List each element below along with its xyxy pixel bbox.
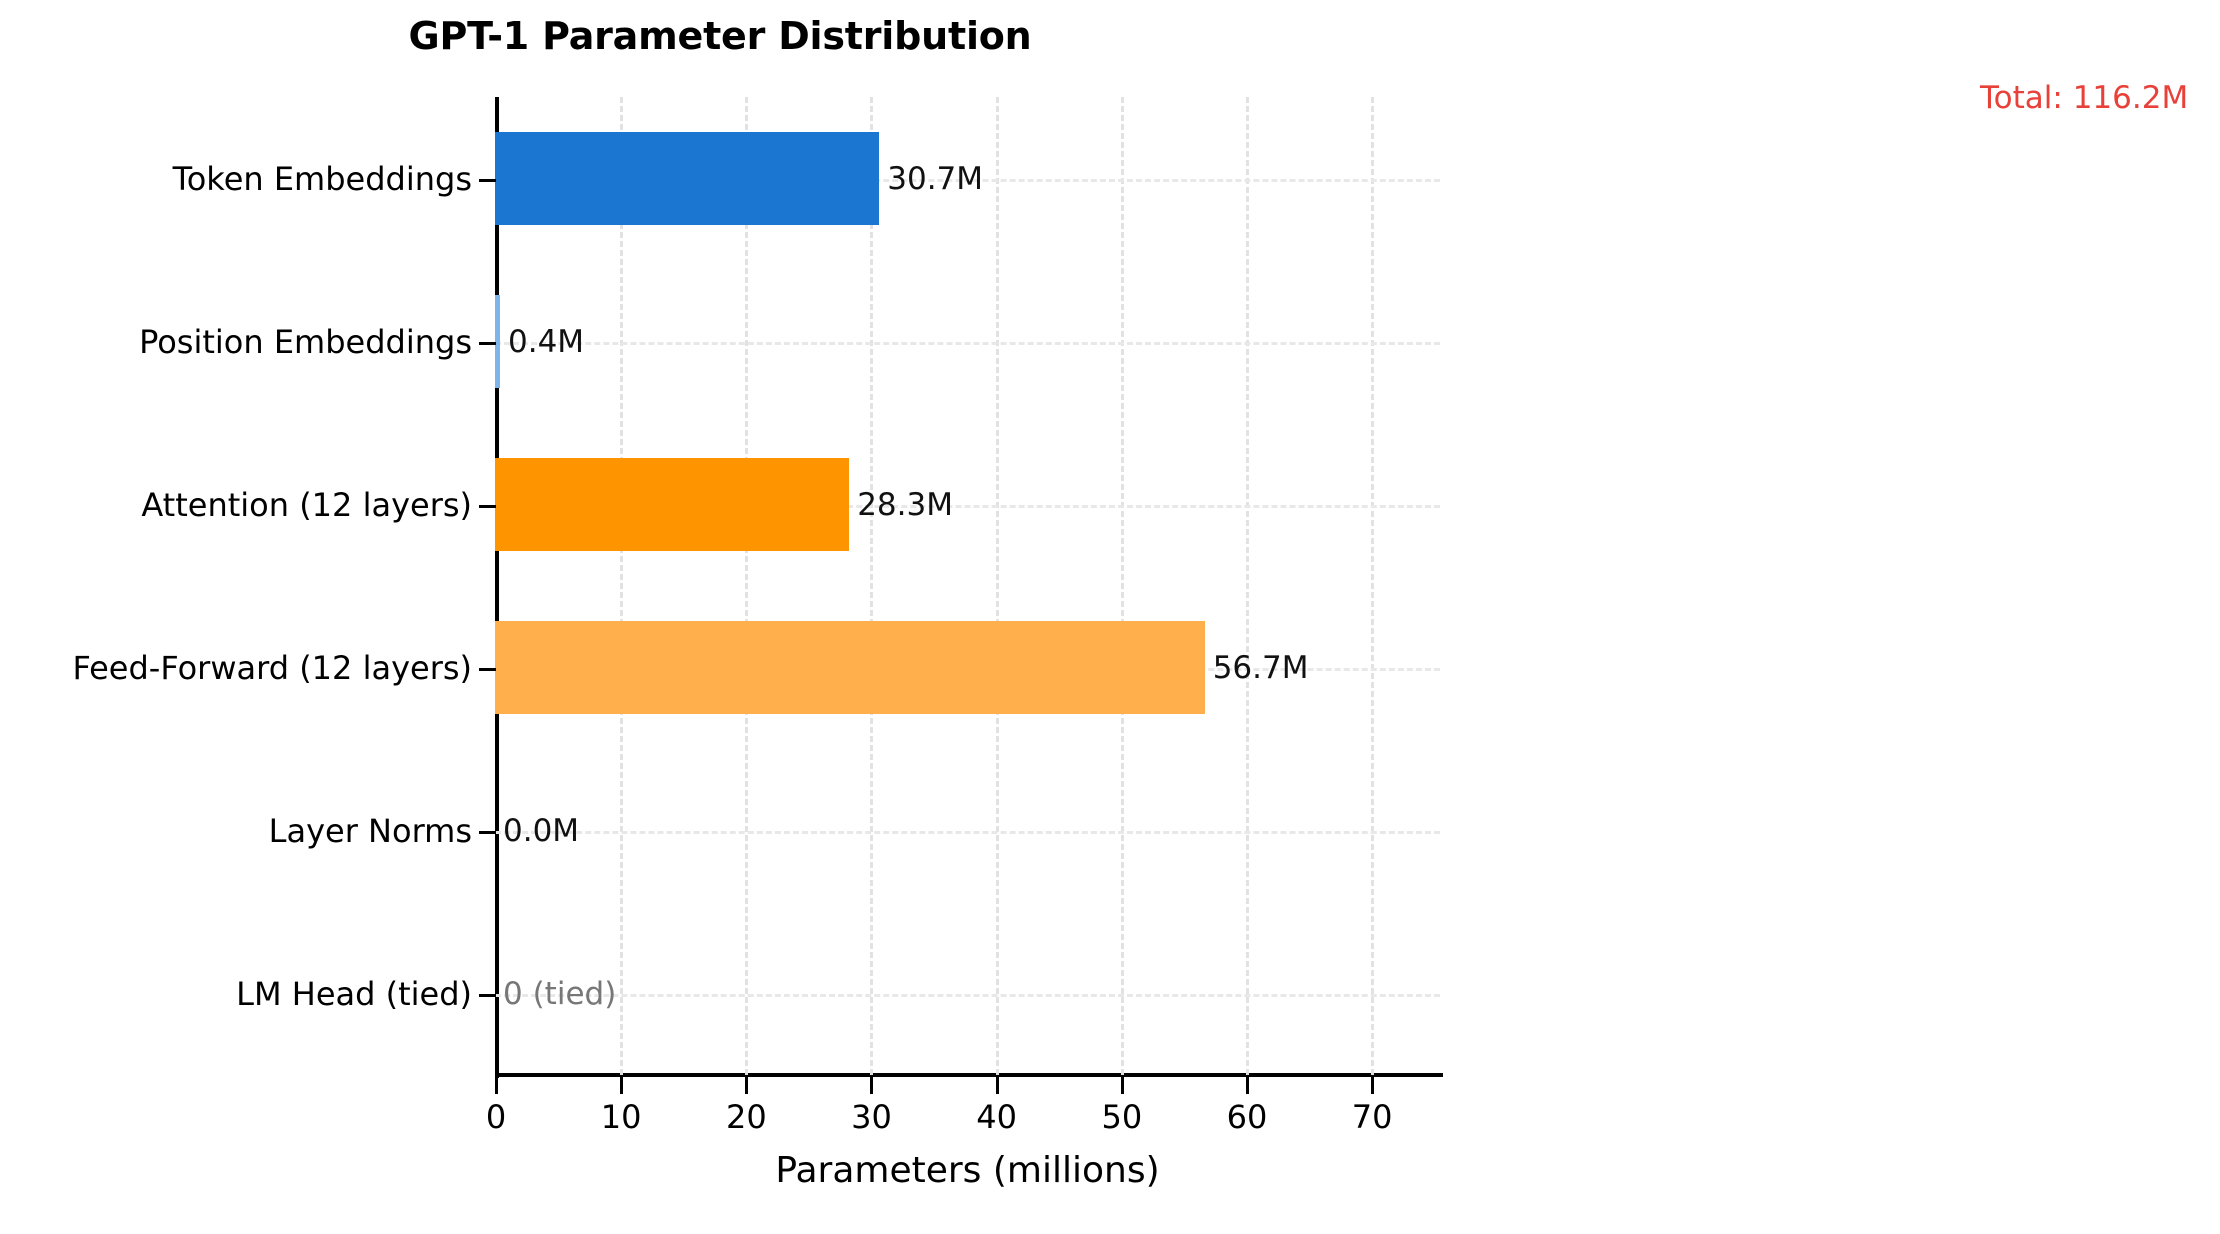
bar-value-label: 0.0M <box>503 813 579 849</box>
gridline-vertical <box>620 97 623 1075</box>
y-tick-label: Token Embeddings <box>173 160 472 198</box>
gridline-vertical <box>870 97 873 1075</box>
y-tick-mark <box>479 668 496 671</box>
gridline-horizontal <box>495 994 1440 997</box>
gridline-vertical <box>745 97 748 1075</box>
gridline-vertical <box>1121 97 1124 1075</box>
bar-value-label: 56.7M <box>1213 650 1309 686</box>
y-tick-mark <box>479 994 496 997</box>
bar[interactable] <box>495 458 849 551</box>
plot-area: 30.7M0.4M28.3M56.7M0.0M0 (tied) <box>495 97 1440 1075</box>
x-tick-label: 20 <box>726 1098 767 1136</box>
gridline-vertical <box>996 97 999 1075</box>
x-tick-label: 30 <box>851 1098 892 1136</box>
gridline-vertical <box>1246 97 1249 1075</box>
bar[interactable] <box>495 132 879 225</box>
x-tick-label: 70 <box>1352 1098 1393 1136</box>
bar-value-label: 0.4M <box>508 324 584 360</box>
x-tick-label: 60 <box>1227 1098 1268 1136</box>
gridline-vertical <box>1371 97 1374 1075</box>
bar-value-label: 30.7M <box>887 161 983 197</box>
x-tick-mark <box>1246 1077 1249 1094</box>
y-tick-label: Attention (12 layers) <box>141 486 472 524</box>
y-tick-label: Position Embeddings <box>139 323 472 361</box>
bar-value-label: 28.3M <box>857 487 953 523</box>
bar-value-label: 0 (tied) <box>503 976 616 1012</box>
gridline-horizontal <box>495 342 1440 345</box>
chart-figure: GPT-1 Parameter Distribution Total: 116.… <box>0 0 2220 1234</box>
chart-title: GPT-1 Parameter Distribution <box>0 14 1440 58</box>
x-tick-mark <box>870 1077 873 1094</box>
total-annotation: Total: 116.2M <box>1980 80 2188 116</box>
gridline-horizontal <box>495 831 1440 834</box>
y-tick-label: Layer Norms <box>269 812 472 850</box>
y-tick-mark <box>479 342 496 345</box>
y-tick-mark <box>479 831 496 834</box>
x-tick-mark <box>745 1077 748 1094</box>
x-tick-mark <box>1371 1077 1374 1094</box>
y-tick-mark <box>479 179 496 182</box>
y-tick-label: Feed-Forward (12 layers) <box>72 649 472 687</box>
x-tick-label: 10 <box>601 1098 642 1136</box>
x-tick-mark <box>495 1077 498 1094</box>
x-axis-title: Parameters (millions) <box>495 1150 1440 1191</box>
x-tick-mark <box>1121 1077 1124 1094</box>
x-tick-label: 0 <box>486 1098 506 1136</box>
x-tick-mark <box>620 1077 623 1094</box>
y-tick-label: LM Head (tied) <box>236 975 472 1013</box>
x-tick-label: 50 <box>1101 1098 1142 1136</box>
y-tick-mark <box>479 505 496 508</box>
x-tick-label: 40 <box>976 1098 1017 1136</box>
x-tick-mark <box>996 1077 999 1094</box>
bar[interactable] <box>495 621 1205 714</box>
